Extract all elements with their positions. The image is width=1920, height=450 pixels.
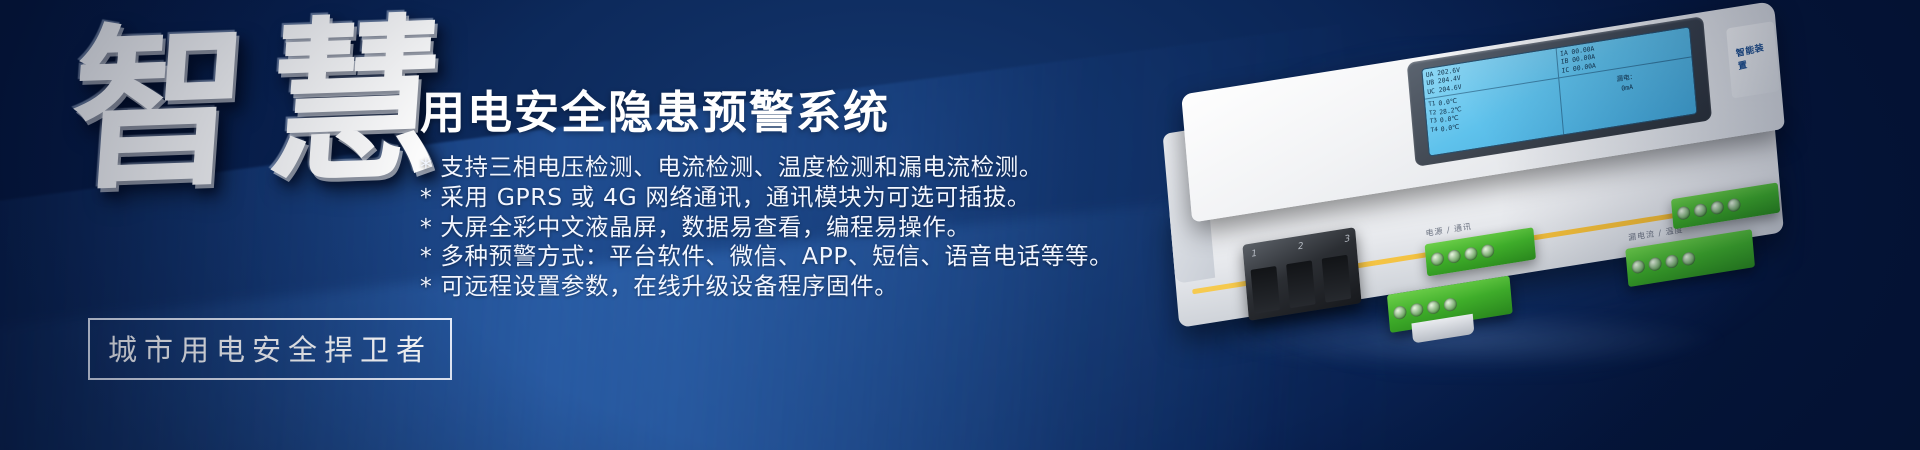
tagline-box: 城市用电安全捍卫者 (88, 318, 452, 380)
terminal-screw (1447, 248, 1461, 263)
list-item: * 采用 GPRS 或 4G 网络通讯，通讯模块为可选可插拔。 (420, 183, 1140, 213)
connector-pin-number-1: 1 (1251, 249, 1258, 260)
din-rail-device: UA 202.6V UB 204.4V UC 204.6V IA 00.00A … (1141, 0, 1859, 401)
connector-pin-number-3: 3 (1344, 234, 1351, 245)
terminal-screw (1443, 297, 1457, 312)
content-column: 用电安全隐患预警系统 * 支持三相电压检测、电流检测、温度检测和漏电流检测。 *… (420, 86, 1140, 302)
terminal-screw (1648, 256, 1662, 271)
terminal-screw (1727, 197, 1741, 212)
product-image: UA 202.6V UB 204.4V UC 204.6V IA 00.00A … (1090, 10, 1920, 390)
connector-pin (1286, 260, 1316, 308)
lcd-temp-value-4: 0.0℃ (1440, 122, 1459, 133)
terminal-screw (1430, 251, 1444, 266)
terminal-screw (1464, 246, 1478, 261)
terminal-screw (1710, 200, 1724, 215)
list-item: * 支持三相电压检测、电流检测、温度检测和漏电流检测。 (420, 153, 1140, 183)
feature-list: * 支持三相电压检测、电流检测、温度检测和漏电流检测。 * 采用 GPRS 或 … (420, 153, 1140, 302)
terminal-screw (1682, 251, 1696, 266)
list-item: * 可远程设置参数，在线升级设备程序固件。 (420, 272, 1140, 302)
list-item: * 多种预警方式：平台软件、微信、APP、短信、语音电话等等。 (420, 242, 1140, 272)
connector-pin (1322, 255, 1352, 303)
list-item: * 大屏全彩中文液晶屏，数据易查看，编程易操作。 (420, 213, 1140, 243)
terminal-screw (1631, 259, 1645, 274)
promo-banner: 智慧 城市用电安全捍卫者 用电安全隐患预警系统 * 支持三相电压检测、电流检测、… (0, 0, 1920, 450)
terminal-screw (1393, 305, 1407, 320)
terminal-screw (1677, 205, 1691, 220)
calligraphy-wordmark: 智慧 (65, 11, 468, 200)
tagline-text: 城市用电安全捍卫者 (108, 327, 432, 369)
page-title: 用电安全隐患预警系统 (420, 86, 1140, 139)
terminal-screw (1693, 202, 1707, 217)
terminal-screw (1481, 243, 1495, 258)
lcd-temp-label-4: T4 (1430, 126, 1438, 136)
connector-pin-number-2: 2 (1297, 241, 1304, 252)
power-connector: 1 2 3 (1242, 227, 1361, 321)
connector-pin (1251, 266, 1281, 314)
terminal-screw (1665, 253, 1679, 268)
terminal-screw (1427, 299, 1441, 314)
terminal-screw (1410, 302, 1424, 317)
